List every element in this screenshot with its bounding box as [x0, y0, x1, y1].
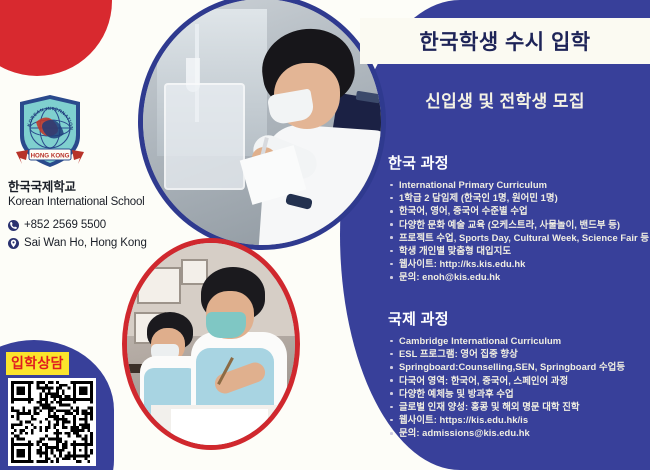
svg-text:HONG KONG: HONG KONG [31, 152, 70, 159]
admissions-consult-badge: 입학상담 [6, 352, 69, 375]
header-subtitle-band: 신입생 및 전학생 모집 [360, 80, 650, 118]
header-title-band: 한국학생 수시 입학 [360, 18, 650, 64]
school-address: Sai Wan Ho, Hong Kong [24, 236, 147, 251]
phone-number: +852 2569 5500 [24, 218, 106, 233]
contact-block: +852 2569 5500 Sai Wan Ho, Hong Kong [8, 218, 208, 254]
list-item: 학생 개인별 맞춤형 대입지도 [388, 244, 646, 257]
list-item-email[interactable]: 문의: admissions@kis.edu.hk [388, 426, 646, 439]
list-item: Cambridge International Curriculum [388, 334, 646, 347]
poster-main-title: 한국학생 수시 입학 [419, 26, 590, 56]
list-item: ESL 프로그램: 영어 집중 향상 [388, 347, 646, 360]
list-item: 1학급 2 담임제 (한국인 1명, 원어민 1명) [388, 191, 646, 204]
admissions-consult-label: 입학상담 [11, 355, 64, 371]
list-item: 다양한 예체능 및 방과후 수업 [388, 387, 646, 400]
contact-row-phone[interactable]: +852 2569 5500 [8, 218, 208, 233]
phone-icon [8, 220, 19, 231]
photo-science-lab [138, 0, 386, 250]
admissions-poster: 한국학생 수시 입학 신입생 및 전학생 모집 한국 과정 Internatio… [0, 0, 650, 470]
curriculum-heading-international: 국제 과정 [388, 308, 646, 329]
list-item-email[interactable]: 문의: enoh@kis.edu.hk [388, 270, 646, 283]
school-name-block: 한국국제학교 Korean International School [8, 180, 188, 209]
decorative-red-circle [0, 0, 112, 76]
list-item-website[interactable]: 웹사이트: https://kis.edu.hk/is [388, 413, 646, 426]
school-name-english: Korean International School [8, 195, 188, 209]
curriculum-block-korean: 한국 과정 International Primary Curriculum 1… [388, 152, 646, 284]
art-class-illustration [127, 243, 295, 445]
qr-code[interactable] [8, 378, 96, 466]
school-name-korean: 한국국제학교 [8, 180, 188, 195]
list-item: 프로젝트 수업, Sports Day, Cultural Week, Scie… [388, 231, 646, 244]
list-item: 다국어 영역: 한국어, 중국어, 스페인어 과정 [388, 374, 646, 387]
list-item-website[interactable]: 웹사이트: http://ks.kis.edu.hk [388, 257, 646, 270]
poster-subtitle: 신입생 및 전학생 모집 [425, 87, 585, 112]
list-item: International Primary Curriculum [388, 178, 646, 191]
contact-row-address[interactable]: Sai Wan Ho, Hong Kong [8, 236, 208, 251]
curriculum-block-international: 국제 과정 Cambridge International Curriculum… [388, 308, 646, 440]
list-item: 한국어, 영어, 중국어 수준별 수업 [388, 204, 646, 217]
curriculum-heading-korean: 한국 과정 [388, 152, 646, 173]
list-item: 글로벌 인재 양성: 홍콩 및 해외 명문 대학 진학 [388, 400, 646, 413]
school-crest-icon: HONG KONG KOREAN INTERNATIONAL SCHOOL [12, 92, 88, 172]
curriculum-list-international: Cambridge International Curriculum ESL 프… [388, 334, 646, 440]
curriculum-list-korean: International Primary Curriculum 1학급 2 담… [388, 178, 646, 284]
photo-art-class [122, 238, 300, 450]
location-pin-icon [8, 238, 19, 249]
list-item: Springboard:Counselling,SEN, Springboard… [388, 360, 646, 373]
list-item: 다양한 문화 예술 교육 (오케스트라, 사물놀이, 밴드부 등) [388, 218, 646, 231]
